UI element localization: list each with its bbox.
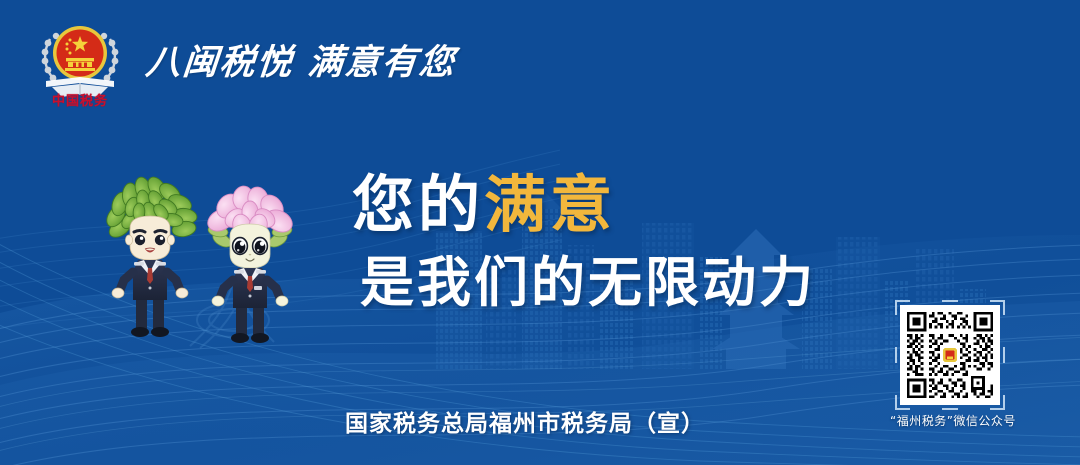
- boy-mascot: [103, 176, 198, 337]
- emblem-caption: 中国税务: [52, 90, 108, 109]
- organization-name: 国家税务总局福州市税务局（宣）: [345, 404, 705, 438]
- headline-line-1: 您的满意: [352, 168, 912, 242]
- mascot-pair: [98, 176, 338, 356]
- qr-caption: “福州税务”微信公众号: [890, 412, 1010, 429]
- poster-header: 中国税务 八闽税悦 满意有您: [0, 0, 1080, 118]
- headline-line-2: 是我们的无限动力: [360, 250, 912, 316]
- tax-promo-poster: 中国税务 八闽税悦 满意有您: [0, 0, 1080, 465]
- header-slogan: 八闽税悦 满意有您: [144, 34, 459, 85]
- china-tax-emblem: 中国税务: [36, 11, 124, 107]
- qr-code[interactable]: [900, 305, 1000, 405]
- headline-line1-yellow: 满意: [484, 168, 616, 241]
- girl-mascot: [204, 184, 296, 343]
- qr-block: “福州税务”微信公众号: [890, 305, 1010, 429]
- headline-line1-white: 您的: [352, 168, 484, 241]
- qr-center-emblem: [943, 348, 957, 362]
- qr-frame: [900, 305, 1000, 405]
- headline-block: 您的满意 是我们的无限动力: [352, 168, 912, 316]
